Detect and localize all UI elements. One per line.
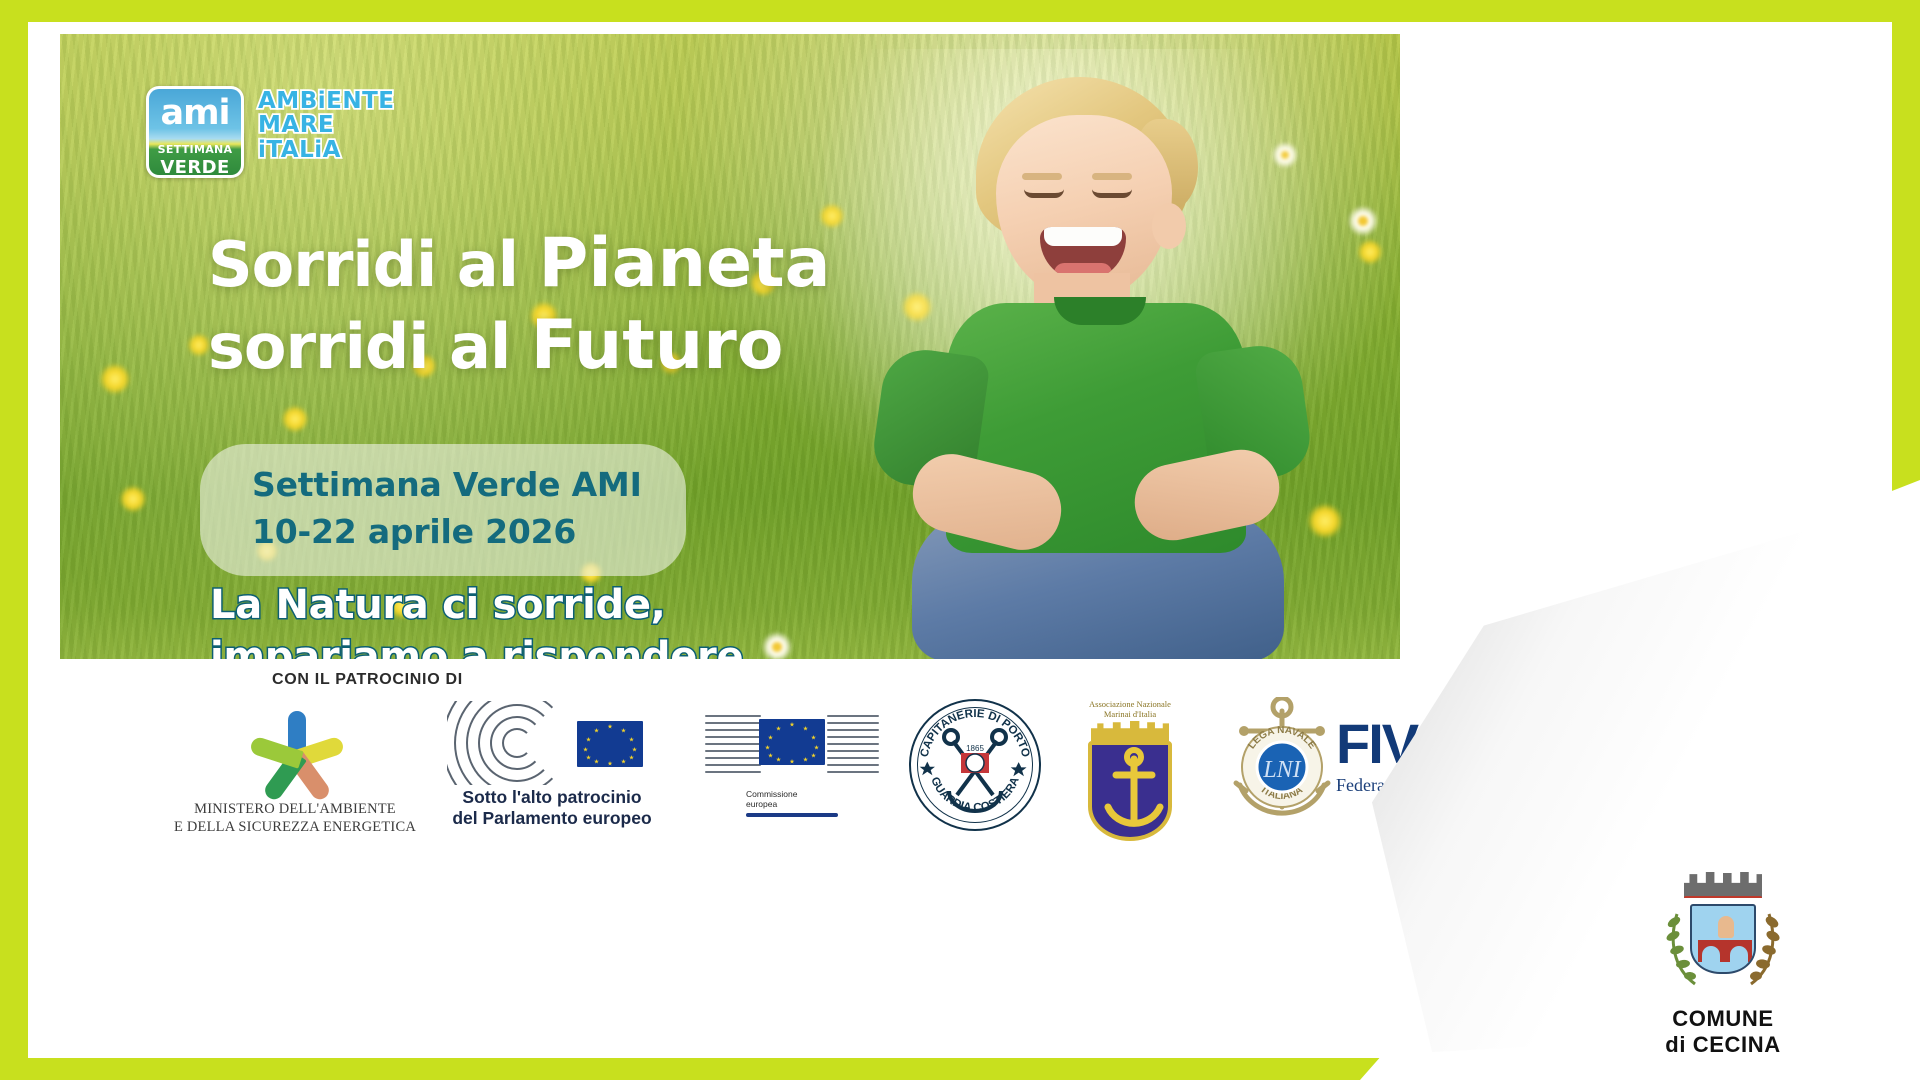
headline: Sorridi al Pianeta sorridi al Futuro <box>208 230 831 380</box>
date-badge: Settimana Verde AMI 10-22 aprile 2026 <box>200 444 686 576</box>
eyebrow-right <box>1092 173 1132 180</box>
eucom-caption-line2: europea <box>746 799 838 809</box>
ami-tagline-ambiente: AMBiENTE <box>258 90 394 113</box>
logo-commissione-europea[interactable]: Commissione europea <box>682 709 902 817</box>
crest-figure <box>1718 916 1734 938</box>
european-commission-icon <box>697 709 887 787</box>
ami-logo[interactable]: ami SETTIMANA VERDE AMBiENTE MARE iTALiA <box>146 86 394 178</box>
europarl-caption-line2: del Parlamento europeo <box>412 808 692 829</box>
svg-text:1865: 1865 <box>966 744 984 753</box>
logo-parlamento-europeo[interactable]: Sotto l'alto patrocinio del Parlamento e… <box>412 701 692 830</box>
subtitle: La Natura ci sorride, impariamo a rispon… <box>210 579 743 659</box>
crest-shield <box>1690 904 1756 974</box>
eucom-caption-line1: Commissione <box>746 789 838 799</box>
fiv-caption: Federazione Italiana <box>1336 775 1536 796</box>
ami-tagline-italia: iTALiA <box>258 139 394 162</box>
subtitle-line1: La Natura ci sorride, <box>210 579 743 631</box>
patronage-footer: CON IL PATROCINIO DI MINISTERO DELL'AMBI… <box>60 659 1400 849</box>
ear <box>1152 203 1186 249</box>
eye-left <box>1024 189 1064 198</box>
flower-yellow <box>188 334 210 356</box>
anmi-caption-line1: Associazione Nazionale <box>1050 699 1210 709</box>
flower-yellow <box>100 364 130 394</box>
logo-guardia-costiera[interactable]: CAPITANERIE DI PORTO GUARDIA COSTIERA 18… <box>890 699 1060 831</box>
flower-yellow <box>282 406 308 432</box>
headline-line2-plain: sorridi al <box>208 310 531 383</box>
patronage-label: CON IL PATROCINIO DI <box>272 671 463 689</box>
headline-line1-plain: Sorridi al <box>208 228 539 301</box>
crest-bridge <box>1698 940 1752 962</box>
ami-tagline-mare: MARE <box>258 114 394 137</box>
ami-badge: ami SETTIMANA VERDE <box>146 86 244 178</box>
hero-banner: ami SETTIMANA VERDE AMBiENTE MARE iTALiA… <box>60 34 1400 659</box>
comune-di-cecina-block[interactable]: COMUNE di CECINA <box>1608 872 1838 1058</box>
logo-ministero-ambiente[interactable]: MINISTERO DELL'AMBIENTE E DELLA SICUREZZ… <box>170 705 420 836</box>
seal-bottom-text: GUARDIA COSTIERA <box>928 775 1022 814</box>
fiv-wordmark: FIV <box>1336 719 1417 769</box>
svg-text:LNI: LNI <box>1262 757 1301 783</box>
smiling-boy-photo <box>884 59 1314 659</box>
subtitle-line2: impariamo a rispondere <box>210 631 743 659</box>
eye-right <box>1092 189 1132 198</box>
ministero-caption-line1: MINISTERO DELL'AMBIENTE <box>170 801 420 819</box>
ministero-caption-line2: E DELLA SICUREZZA ENERGETICA <box>170 819 420 837</box>
eucom-underline <box>746 813 838 817</box>
comune-label: COMUNE <box>1608 1006 1838 1032</box>
cecina-crest-icon <box>1663 872 1783 1000</box>
ami-settimana-label: SETTIMANA <box>149 143 241 156</box>
date-badge-line2: 10-22 aprile 2026 <box>252 509 642 556</box>
crest-crown <box>1684 872 1762 898</box>
anmi-caption-line2: Marinai d'Italia <box>1050 709 1210 719</box>
headline-line1-strong: Pianeta <box>539 224 831 303</box>
ami-tagline: AMBiENTE MARE iTALiA <box>258 86 394 162</box>
european-parliament-icon <box>447 701 657 785</box>
logo-fiv[interactable]: FIV Federazione Italiana <box>1336 719 1536 796</box>
multicolor-star-icon <box>240 705 350 801</box>
fiv-sail-icon <box>1454 715 1540 777</box>
date-badge-line1: Settimana Verde AMI <box>252 462 642 509</box>
cecina-label: di CECINA <box>1608 1032 1838 1058</box>
flower-yellow <box>120 486 146 512</box>
logo-marinai-italia[interactable]: Associazione Nazionale Marinai d'Italia <box>1050 699 1210 841</box>
svg-text:GUARDIA COSTIERA: GUARDIA COSTIERA <box>928 775 1022 814</box>
ami-wordmark: ami <box>149 96 241 131</box>
eyebrow-left <box>1022 173 1062 180</box>
lega-navale-anchor-icon: LEGA NAVALE ITALIANA LNI <box>1222 697 1342 833</box>
headline-line2-strong: Futuro <box>531 306 784 385</box>
flower-daisy <box>762 632 792 659</box>
anmi-crown-icon <box>1091 721 1169 741</box>
ami-verde-label: VERDE <box>149 157 241 175</box>
anmi-shield-icon <box>1088 741 1172 841</box>
europarl-caption-line1: Sotto l'alto patrocinio <box>412 787 692 808</box>
coast-guard-seal-icon: CAPITANERIE DI PORTO GUARDIA COSTIERA 18… <box>909 699 1041 831</box>
